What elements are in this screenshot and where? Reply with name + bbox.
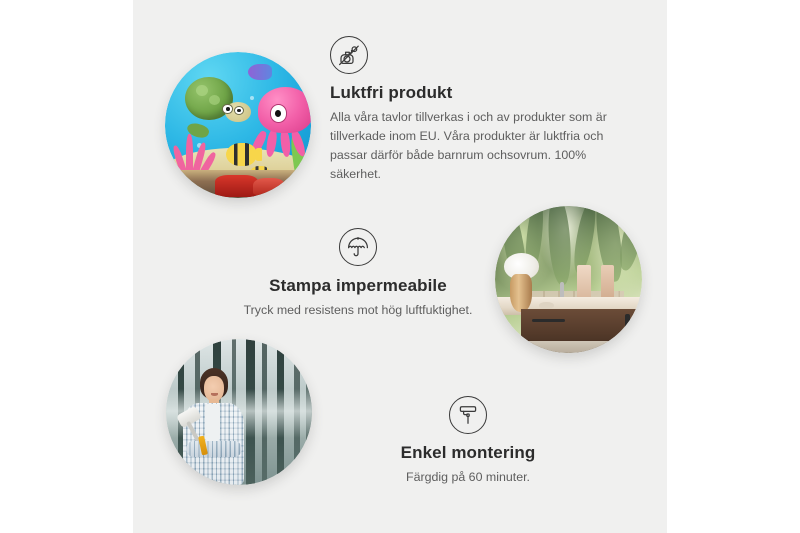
no-fragrance-spray-icon [330,36,368,74]
feature-description: Färgdig på 60 minuter. [323,468,613,487]
content-panel: Luktfri produkt Alla våra tavlor tillver… [133,0,667,533]
feature-title: Luktfri produkt [330,83,626,103]
towel [577,265,590,300]
paint-roller-icon [449,396,487,434]
sea-object-red [215,175,259,197]
turtle-icon [184,75,248,133]
woman-with-paint-roller-forest-circle-image [166,339,312,485]
umbrella-icon [339,228,377,266]
feature-description: Tryck med resistens mot hög luftfuktighe… [208,301,508,320]
feature-block-odorless: Luktfri produkt Alla våra tavlor tillver… [330,36,626,183]
purple-fish-icon [248,64,271,80]
feature-block-assembly: Enkel montering Färgdig på 60 minuter. [323,396,613,487]
feature-block-waterproof: Stampa impermeabile Tryck med resistens … [208,228,508,320]
octopus-icon [250,87,311,154]
woman-figure [178,368,263,485]
soap-dish [539,302,554,309]
floor [495,341,642,353]
sea-object-red-2 [253,178,285,196]
vase [510,274,532,312]
feature-title: Enkel montering [323,443,613,463]
feature-description: Alla våra tavlor tillverkas i och av pro… [330,108,626,183]
feature-title: Stampa impermeabile [208,276,508,296]
yellow-striped-fish-icon [226,143,255,166]
underwater-cartoon-circle-image [165,52,311,198]
product-benefits-page: Luktfri produkt Alla våra tavlor tillver… [0,0,800,533]
bathroom-botanical-wallpaper-circle-image [495,206,642,353]
coral-icon [174,134,215,175]
